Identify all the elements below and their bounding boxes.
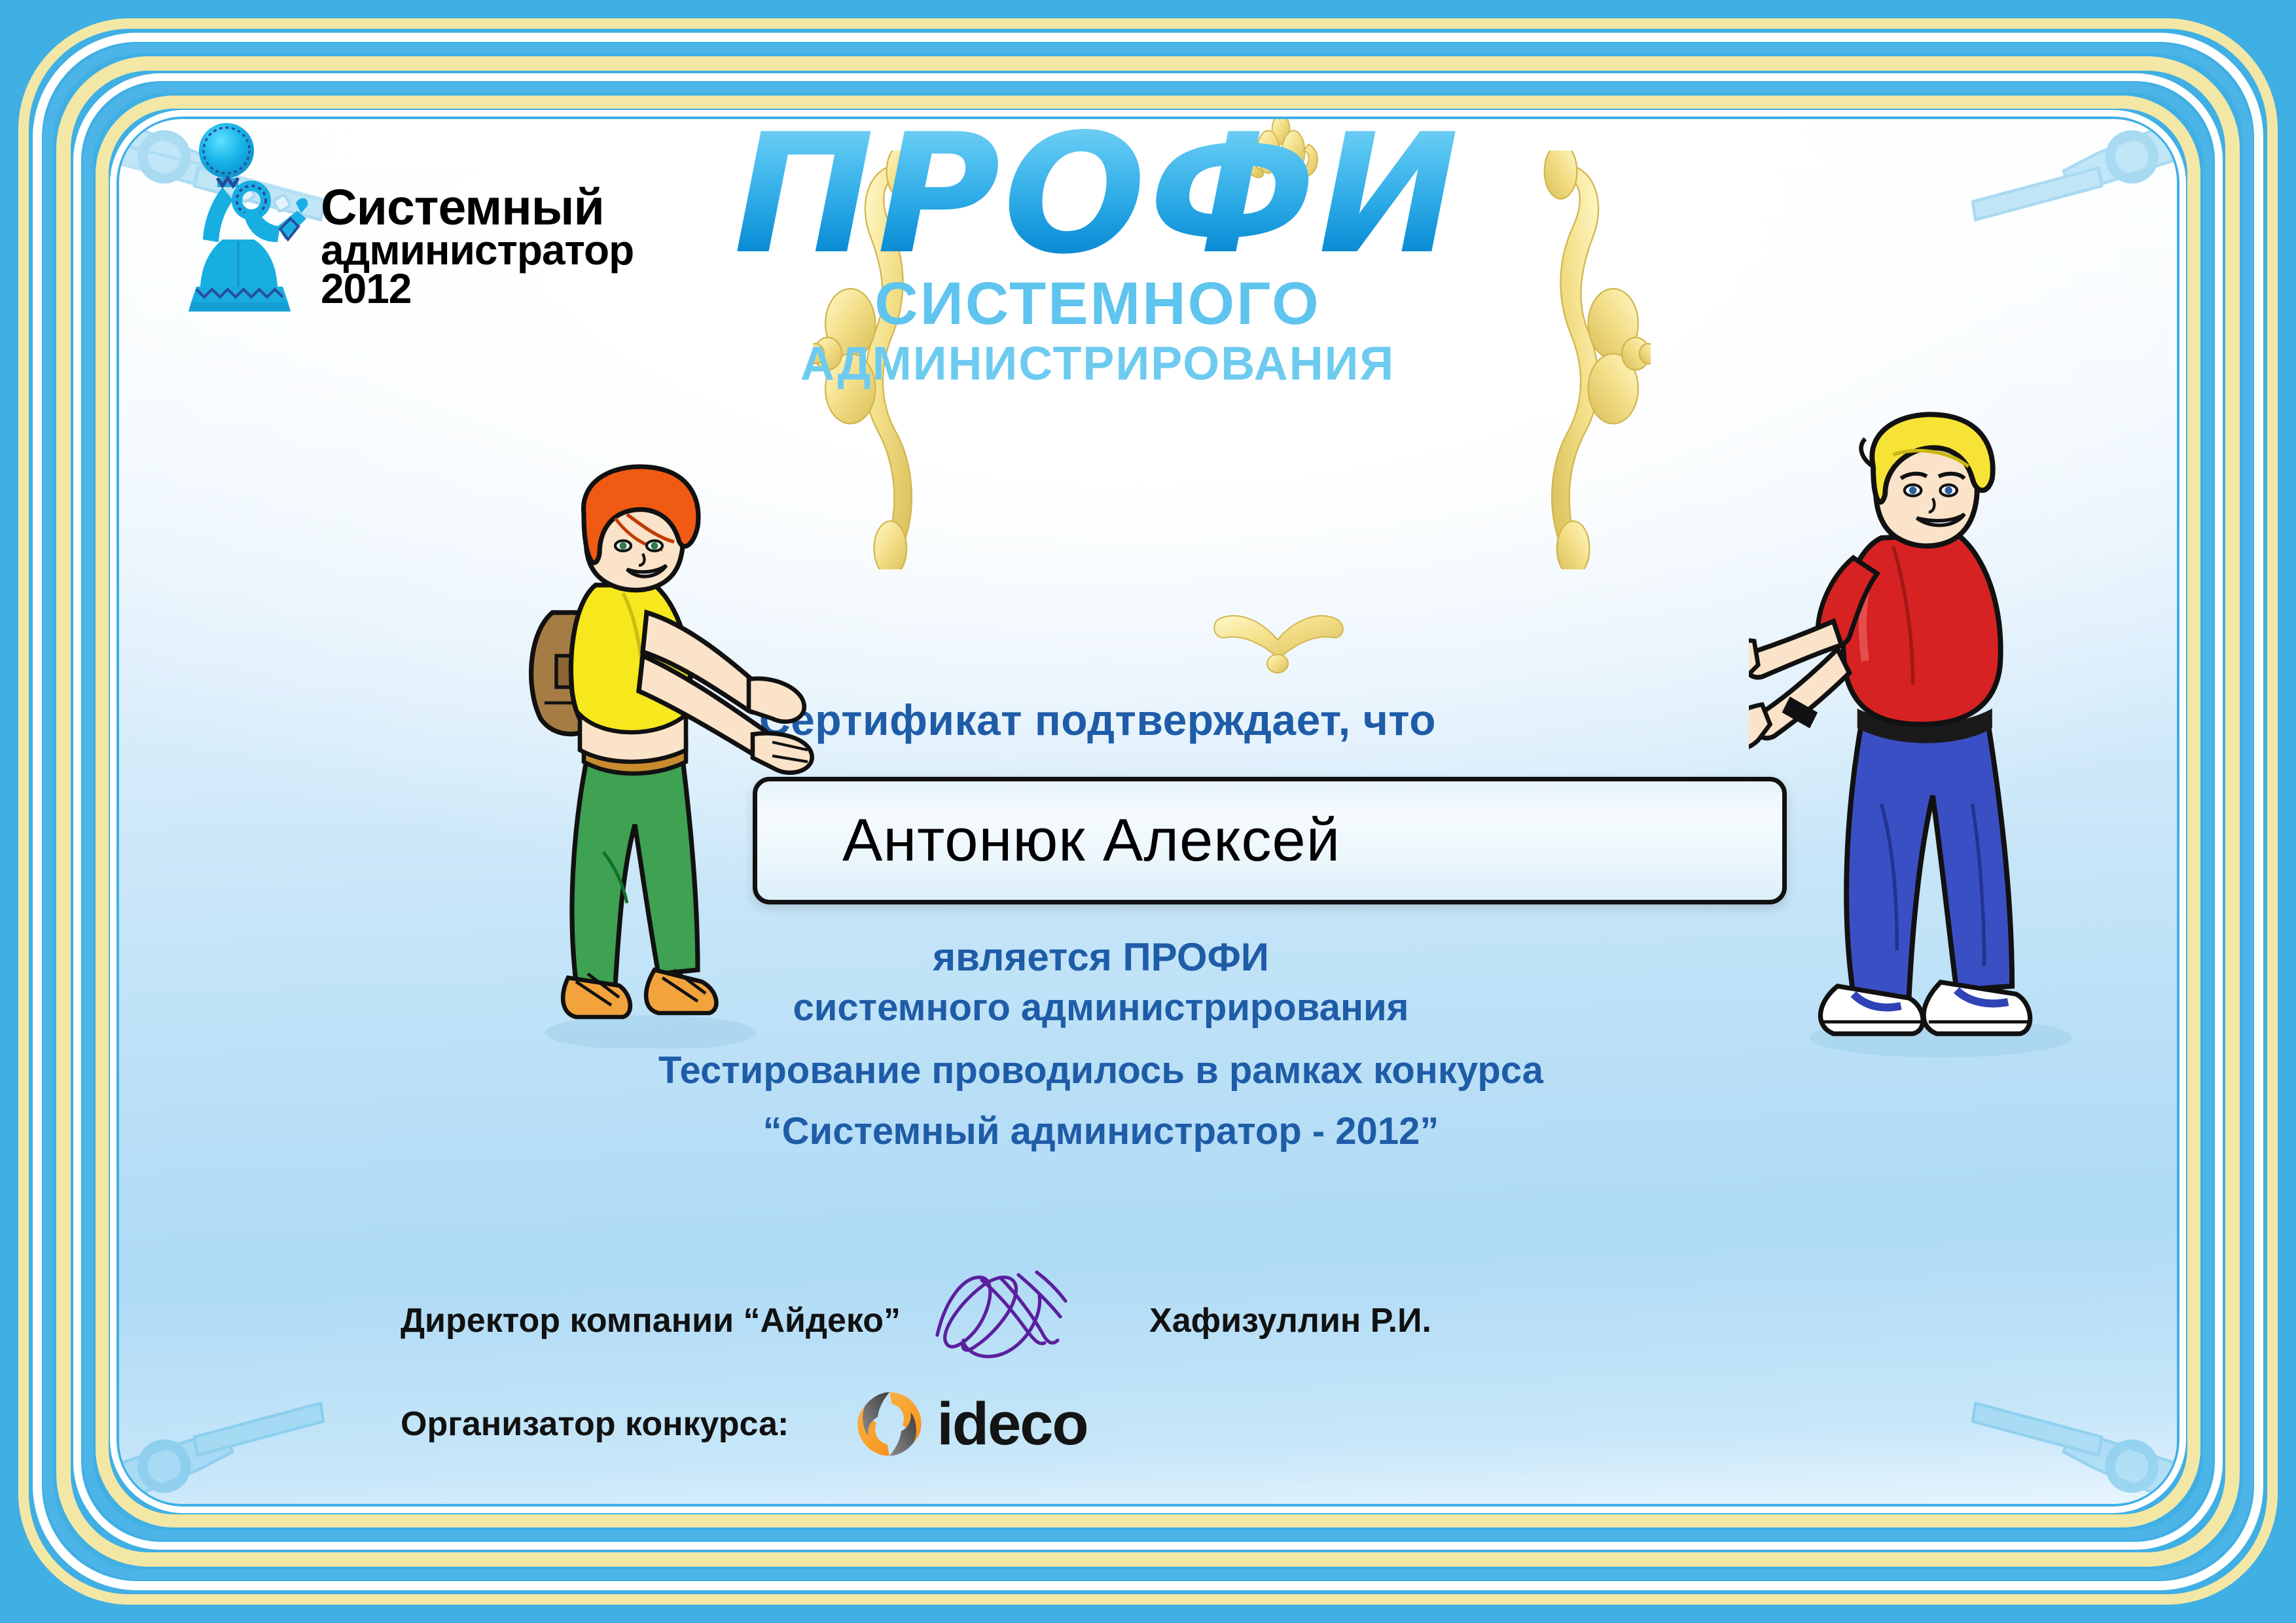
pliers-tool-icon — [1920, 119, 2177, 368]
recipient-name-plate: Антонюк Алексей — [753, 777, 1787, 904]
sysadmin-mascot-icon — [165, 119, 335, 315]
title-main: ПРОФИ — [687, 119, 1509, 277]
partners-row: Партнеры конкурса: KASPERSKY lab SkyDNS … — [401, 1500, 2177, 1504]
body-line-3: Тестирование проводилось в рамках конкур… — [643, 1048, 1559, 1094]
bashim-logo-icon: bash.im ЦИТАТНИК РУНЕТА — [1740, 1500, 1976, 1504]
gold-flourish-icon — [1513, 151, 1651, 569]
ideco-wordmark: ideco — [937, 1390, 1087, 1459]
handwritten-signature-icon — [924, 1259, 1121, 1364]
ideco-logo: ideco — [854, 1389, 1087, 1459]
body-line-1: является ПРОФИ — [643, 934, 1559, 981]
brand-text-block: Системный администратор 2012 — [321, 185, 634, 308]
title-sub-2: АДМИНИСТРИРОВАНИЯ — [695, 340, 1500, 387]
male-character-icon — [1749, 407, 2128, 1061]
bashim-wordmark: bash.im — [1740, 1500, 1976, 1504]
certificate-canvas: Системный администратор 2012 — [119, 119, 2177, 1504]
body-line-2: системного администрирования — [643, 985, 1559, 1031]
recipient-name: Антонюк Алексей — [842, 806, 1340, 875]
brand-logo: Системный администратор 2012 — [198, 126, 656, 315]
organizer-label: Организатор конкурса: — [401, 1404, 789, 1444]
certificate-body: является ПРОФИ системного администрирова… — [643, 934, 1559, 1154]
director-name: Хафизуллин Р.И. — [1149, 1301, 1431, 1340]
title-block: ПРОФИ СИСТЕМНОГО АДМИНИСТРИРОВАНИЯ — [695, 119, 1500, 387]
signature-row: Директор компании “Айдеко” Хафизуллин Р.… — [401, 1277, 1644, 1364]
brand-line-1: Системный — [321, 185, 634, 231]
body-line-4: “Системный администратор - 2012” — [643, 1109, 1559, 1154]
gold-flourish-icon — [1193, 603, 1363, 675]
pliers-tool-icon — [1920, 1255, 2177, 1504]
brand-line-3: 2012 — [321, 270, 634, 308]
organizer-row: Организатор конкурса: ide — [401, 1389, 1644, 1459]
pliers-tool-icon — [119, 1255, 376, 1504]
brand-line-2: администратор — [321, 231, 634, 270]
director-label: Директор компании “Айдеко” — [401, 1301, 901, 1340]
ideco-swirl-icon — [854, 1389, 925, 1459]
